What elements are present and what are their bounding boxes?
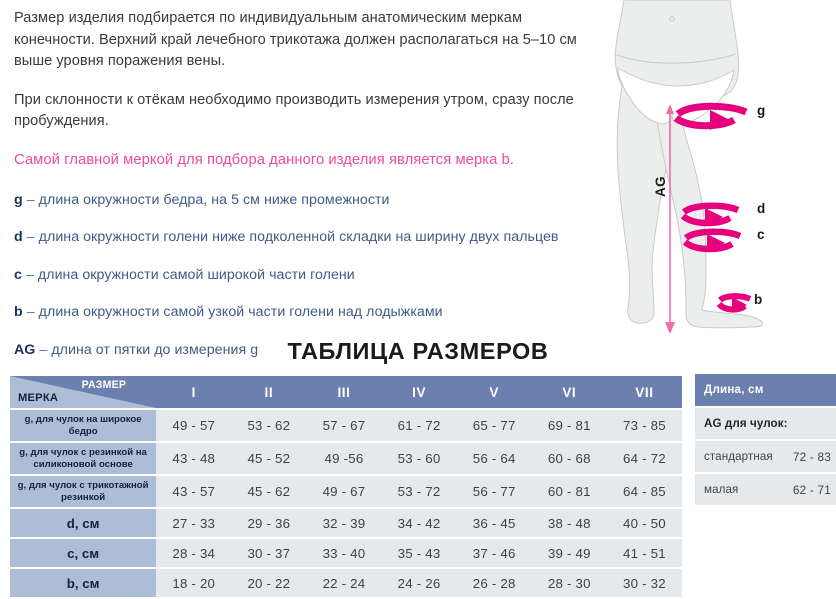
cell-value: 41 - 51: [607, 539, 682, 567]
size-table: РАЗМЕР МЕРКА I II III IV V VI VII g, для…: [10, 374, 682, 599]
cell-value: 53 - 72: [382, 476, 457, 507]
leg-measurement-diagram: g d c b AG: [602, 0, 836, 340]
cell-value: 35 - 43: [382, 539, 457, 567]
cell-value: 73 - 85: [607, 410, 682, 441]
cell-value: 53 - 60: [382, 443, 457, 474]
legend-key-d: d: [14, 229, 23, 245]
intro-paragraph-1: Размер изделия подбирается по индивидуал…: [14, 8, 606, 73]
length-standard-label: стандартная: [704, 450, 793, 463]
legend-dash-d: –: [27, 229, 35, 245]
length-small-value: 62 - 71: [793, 483, 831, 497]
cell-value: 26 - 28: [457, 569, 532, 597]
header-size-word: РАЗМЕР: [82, 379, 127, 391]
intro-paragraph-2: При склонности к отёкам необходимо произ…: [14, 90, 606, 133]
legend-text-g: длина окружности бедра, на 5 см ниже про…: [39, 192, 390, 208]
row-label-g-silicone-band: g, для чулок с резинкой на силиконовой о…: [10, 443, 156, 474]
figure-label-c: c: [757, 227, 765, 242]
cell-value: 27 - 33: [156, 509, 231, 537]
length-standard-value: 72 - 83: [793, 450, 831, 464]
size-column-header-5: V: [457, 376, 532, 408]
length-panel-row-standard: стандартная 72 - 83: [695, 441, 836, 472]
cell-value: 69 - 81: [532, 410, 607, 441]
cell-value: 32 - 39: [306, 509, 381, 537]
cell-value: 60 - 81: [532, 476, 607, 507]
cell-value: 65 - 77: [457, 410, 532, 441]
row-label-d: d, см: [10, 509, 156, 537]
legend-item-c: c – длина окружности самой широкой части…: [14, 266, 606, 285]
cell-value: 18 - 20: [156, 569, 231, 597]
legend-item-b: b – длина окружности самой узкой части г…: [14, 303, 606, 322]
table-row: c, см 28 - 34 30 - 37 33 - 40 35 - 43 37…: [10, 539, 682, 567]
cell-value: 28 - 34: [156, 539, 231, 567]
cell-value: 49 - 67: [306, 476, 381, 507]
row-label-g-knit-band: g, для чулок с трикотажной резинкой: [10, 476, 156, 507]
length-side-panel: Длина, см AG для чулок: стандартная 72 -…: [695, 374, 836, 505]
legend-dash-c: –: [26, 267, 34, 283]
cell-value: 22 - 24: [306, 569, 381, 597]
cell-value: 49 - 57: [156, 410, 231, 441]
table-row: d, см 27 - 33 29 - 36 32 - 39 34 - 42 36…: [10, 509, 682, 537]
size-table-title: ТАБЛИЦА РАЗМЕРОВ: [0, 338, 836, 365]
legend-key-c: c: [14, 267, 22, 283]
size-table-zone: РАЗМЕР МЕРКА I II III IV V VI VII g, для…: [10, 374, 830, 599]
cell-value: 49 -56: [306, 443, 381, 474]
cell-value: 64 - 72: [607, 443, 682, 474]
cell-value: 33 - 40: [306, 539, 381, 567]
cell-value: 61 - 72: [382, 410, 457, 441]
legend-key-b: b: [14, 304, 23, 320]
size-column-header-6: VI: [532, 376, 607, 408]
cell-value: 45 - 52: [231, 443, 306, 474]
length-panel-title-label: AG для чулок:: [704, 417, 831, 430]
cell-value: 36 - 45: [457, 509, 532, 537]
cell-value: 56 - 64: [457, 443, 532, 474]
length-panel-row-small: малая 62 - 71: [695, 474, 836, 505]
cell-value: 29 - 36: [231, 509, 306, 537]
figure-label-b: b: [754, 292, 762, 307]
table-row: g, для чулок на широкое бедро 49 - 57 53…: [10, 410, 682, 441]
length-panel-header: Длина, см: [695, 374, 836, 406]
cell-value: 43 - 48: [156, 443, 231, 474]
table-row: b, см 18 - 20 20 - 22 22 - 24 24 - 26 26…: [10, 569, 682, 597]
cell-value: 60 - 68: [532, 443, 607, 474]
legend-text-c: длина окружности самой широкой части гол…: [38, 267, 355, 283]
body-silhouette: [615, 0, 762, 328]
row-label-g-wide-hip: g, для чулок на широкое бедро: [10, 410, 156, 441]
legend-key-g: g: [14, 192, 23, 208]
instructions-text-column: Размер изделия подбирается по индивидуал…: [14, 8, 606, 378]
cell-value: 37 - 46: [457, 539, 532, 567]
cell-value: 64 - 85: [607, 476, 682, 507]
cell-value: 53 - 62: [231, 410, 306, 441]
cell-value: 39 - 49: [532, 539, 607, 567]
legend-item-d: d – длина окружности голени ниже подколе…: [14, 228, 606, 247]
key-measurement-highlight: Самой главной меркой для подбора данного…: [14, 150, 606, 171]
size-column-header-3: III: [306, 376, 381, 408]
size-column-header-4: IV: [382, 376, 457, 408]
size-column-header-1: I: [156, 376, 231, 408]
length-small-label: малая: [704, 483, 793, 496]
row-label-b: b, см: [10, 569, 156, 597]
figure-label-ag: AG: [653, 176, 668, 197]
figure-label-g: g: [757, 103, 765, 118]
length-panel-row-title: AG для чулок:: [695, 408, 836, 439]
cell-value: 43 - 57: [156, 476, 231, 507]
cell-value: 56 - 77: [457, 476, 532, 507]
cell-value: 38 - 48: [532, 509, 607, 537]
legend-text-d: длина окружности голени ниже подколенной…: [39, 229, 559, 245]
legend-text-b: длина окружности самой узкой части голен…: [39, 304, 443, 320]
cell-value: 40 - 50: [607, 509, 682, 537]
cell-value: 45 - 62: [231, 476, 306, 507]
cell-value: 57 - 67: [306, 410, 381, 441]
cell-value: 30 - 32: [607, 569, 682, 597]
header-measure-word: МЕРКА: [18, 392, 58, 404]
header-corner-cell: РАЗМЕР МЕРКА: [10, 376, 156, 408]
cell-value: 20 - 22: [231, 569, 306, 597]
cell-value: 34 - 42: [382, 509, 457, 537]
table-row: g, для чулок с резинкой на силиконовой о…: [10, 443, 682, 474]
row-label-c: c, см: [10, 539, 156, 567]
instructions-and-figure-area: Размер изделия подбирается по индивидуал…: [0, 0, 836, 332]
cell-value: 28 - 30: [532, 569, 607, 597]
body-figure-svg: [602, 0, 836, 340]
table-header-row: РАЗМЕР МЕРКА I II III IV V VI VII: [10, 376, 682, 408]
cell-value: 30 - 37: [231, 539, 306, 567]
figure-label-d: d: [757, 201, 765, 216]
size-column-header-2: II: [231, 376, 306, 408]
legend-dash-b: –: [27, 304, 35, 320]
legend-dash-g: –: [27, 192, 35, 208]
table-row: g, для чулок с трикотажной резинкой 43 -…: [10, 476, 682, 507]
legend-item-g: g – длина окружности бедра, на 5 см ниже…: [14, 191, 606, 210]
size-column-header-7: VII: [607, 376, 682, 408]
cell-value: 24 - 26: [382, 569, 457, 597]
